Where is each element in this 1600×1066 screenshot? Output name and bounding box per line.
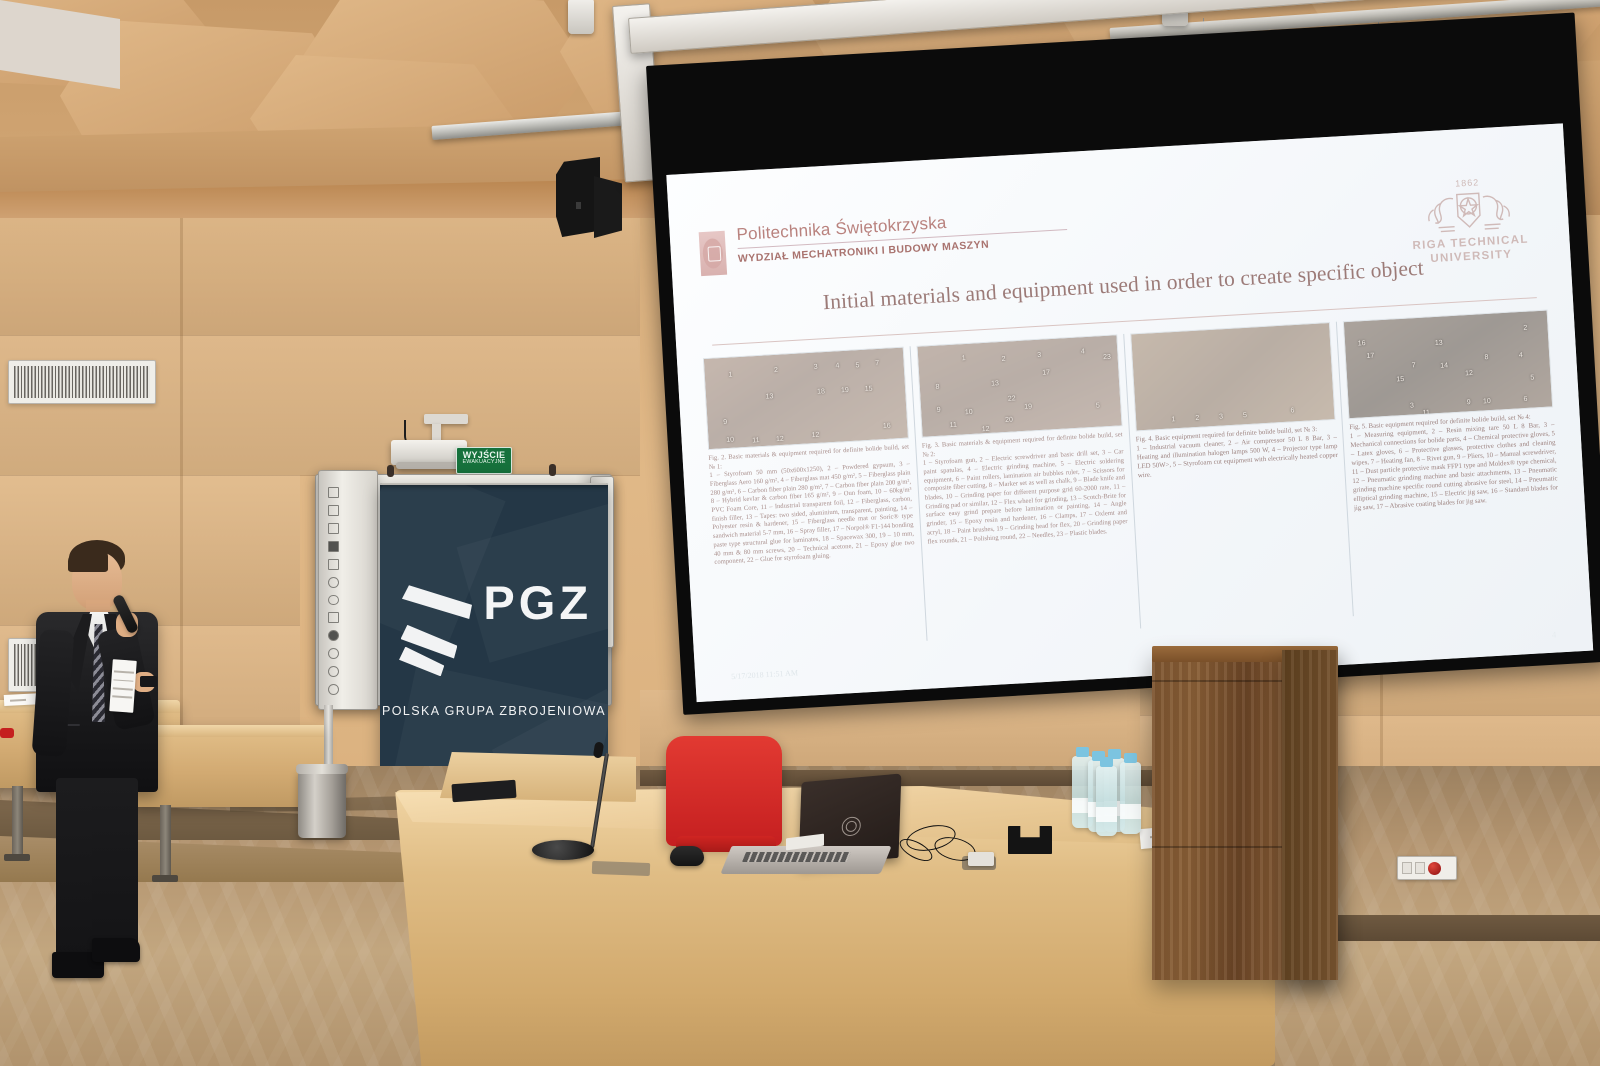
air-vent: [8, 360, 156, 404]
emergency-exit-sign: WYJŚCIE EWAKUACYJNE: [456, 447, 512, 474]
rtu-crest-icon: [1413, 185, 1526, 239]
desk-foot: [152, 875, 178, 882]
projection-screen-surface: Politechnika Świętokrzyska WYDZIAŁ MECHA…: [666, 123, 1593, 702]
desk-leg: [12, 786, 23, 856]
desk-cable-port: [592, 861, 650, 876]
slide-column-fig3: 12 34 238 1317 229 1019 2011 125 Fig. 3.…: [909, 334, 1140, 642]
wall-speaker-side: [594, 176, 622, 238]
fig2-caption-body: 1 – Styrofoam 50 mm (50x600x1250), 2 – P…: [709, 461, 915, 568]
trash-bin-lid: [296, 764, 348, 774]
wall-panel: [0, 215, 640, 336]
presentation-clicker[interactable]: [140, 676, 157, 687]
fig5-caption-body: 1 – Measuring equipment, 2 – Resin mixin…: [1350, 421, 1559, 513]
banner-hanger-knob: [549, 464, 556, 476]
computer-mouse[interactable]: [670, 846, 704, 866]
wall-seam: [180, 215, 183, 775]
page-icon[interactable]: [328, 505, 339, 516]
red-chair-sliver: [0, 728, 14, 738]
audience-desk-top: [132, 725, 324, 737]
line-icon[interactable]: [328, 612, 339, 623]
photo-equipment-set-4: 1617 714 1213 84 215 311 910 65: [1343, 309, 1553, 419]
desk-foot: [4, 854, 30, 861]
dell-logo-icon: [841, 816, 861, 837]
stroke-icon[interactable]: [328, 666, 339, 677]
slide-page-number: 4: [1552, 630, 1557, 640]
presentation-slide: Politechnika Świętokrzyska WYDZIAŁ MECHA…: [666, 123, 1593, 702]
dots-icon[interactable]: [328, 577, 339, 588]
emergency-button-icon[interactable]: [1428, 862, 1441, 875]
light-switch-icon[interactable]: [1415, 862, 1425, 874]
slide-timestamp: 5/17/2018 11:51 AM: [731, 668, 798, 681]
power-adapter: [968, 852, 994, 866]
desk-leg: [160, 805, 171, 877]
page-icon[interactable]: [328, 523, 339, 534]
microphone-base: [532, 840, 594, 860]
pgz-chevron-logo-icon: [401, 585, 474, 684]
light-switch-icon[interactable]: [1402, 862, 1412, 874]
banner-top-bar: [380, 483, 608, 485]
slide-column-fig5: 1617 714 1213 84 215 311 910 65 Fig. 5. …: [1336, 309, 1571, 617]
photo-materials-set-1: 12 34 57 910 1112 1216 1318 1915: [703, 346, 909, 449]
wall-panel: [0, 475, 300, 626]
photo-materials-set-2: 12 34 238 1317 229 1019 2011 125: [916, 334, 1122, 437]
lecture-hall-photo: Politechnika Świętokrzyska WYDZIAŁ MECHA…: [0, 0, 1600, 1066]
presenter-shoe-right: [92, 938, 140, 962]
red-chair-back[interactable]: [666, 736, 782, 846]
wall-control-panel[interactable]: [1397, 856, 1457, 880]
wall-panel: [0, 335, 640, 476]
whiteboard-icon-column[interactable]: [323, 481, 343, 695]
whiteboard-side-panel[interactable]: [318, 470, 378, 710]
hook-icon[interactable]: [328, 684, 339, 695]
presenter-name-badge: [109, 659, 137, 713]
water-bottle[interactable]: [1096, 766, 1117, 836]
pen-icon[interactable]: [328, 630, 339, 641]
banner-hanger-knob: [387, 465, 394, 477]
presenter-right-leg: [92, 778, 138, 950]
slide-institution: Politechnika Świętokrzyska: [736, 213, 947, 245]
projector-lens-shroud: [396, 462, 462, 469]
curve-icon[interactable]: [328, 595, 339, 606]
presenter-hair-front: [68, 546, 108, 572]
trash-bin: [298, 770, 346, 838]
politechnika-logo-icon: [698, 230, 726, 275]
square-fill-icon[interactable]: [328, 541, 339, 552]
projection-screen-frame: Politechnika Świętokrzyska WYDZIAŁ MECHA…: [646, 12, 1600, 714]
slide-column-fig4: 12 35 6 Fig. 4. Basic equipment required…: [1123, 321, 1354, 629]
exit-sign-sub: EWAKUACYJNE: [457, 460, 511, 466]
slide-columns: 12 34 57 910 1112 1216 1318 1915 Fig. 2.…: [697, 309, 1571, 654]
ceiling-fixture: [568, 0, 594, 34]
laptop-keyboard[interactable]: [742, 852, 851, 862]
slide-column-fig2: 12 34 57 910 1112 1216 1318 1915 Fig. 2.…: [697, 346, 927, 653]
page-icon[interactable]: [328, 487, 339, 498]
wall-speaker: [556, 157, 600, 237]
lectern-side-panel: [1282, 650, 1338, 980]
arc-icon[interactable]: [328, 648, 339, 659]
frame-icon[interactable]: [328, 559, 339, 570]
pgz-wordmark: PGZ: [483, 575, 592, 630]
fig3-caption-body: 1 – Styrofoam gun, 2 – Electric screwdri…: [923, 448, 1129, 546]
pgz-tagline: POLSKA GRUPA ZBROJENIOWA: [380, 704, 608, 718]
water-bottle[interactable]: [1120, 762, 1141, 834]
photo-equipment-set-3: 12 35 6: [1130, 322, 1336, 431]
